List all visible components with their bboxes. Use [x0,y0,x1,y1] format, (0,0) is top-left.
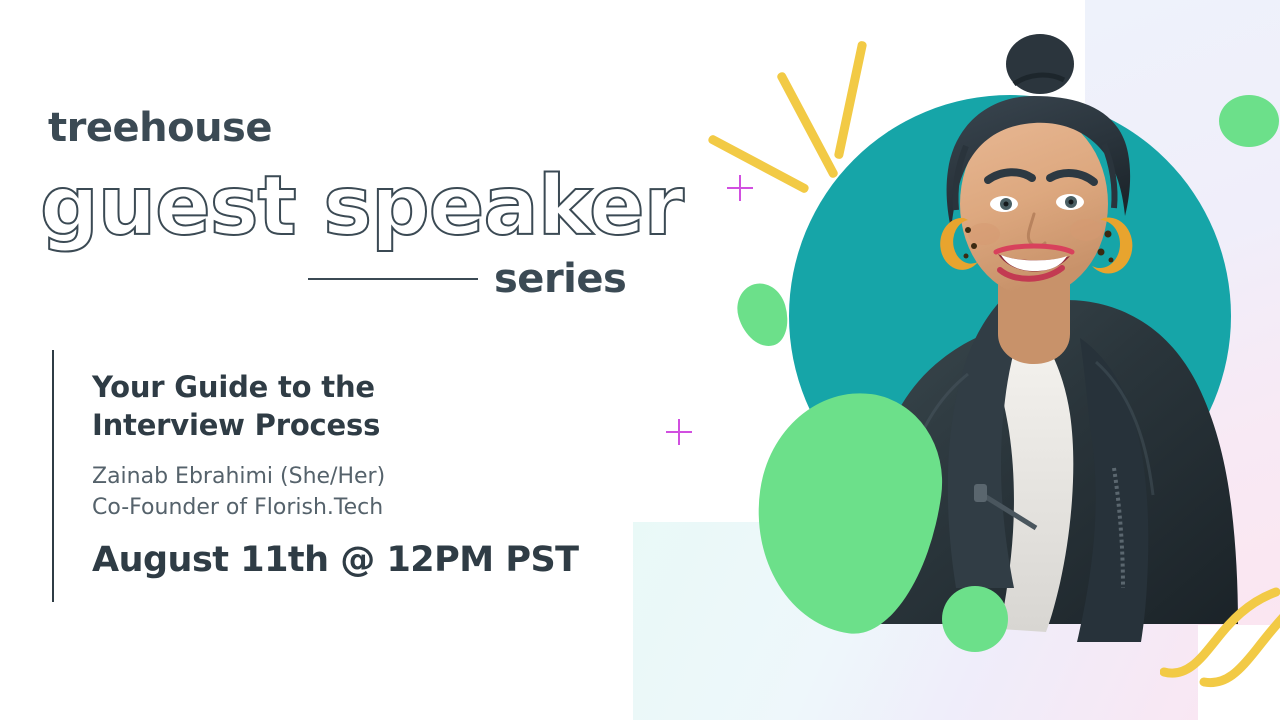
speaker-name: Zainab Ebrahimi (She/Her) [92,461,612,492]
headline-outline: guest speaker [40,164,683,250]
session-datetime: August 11th @ 12PM PST [92,541,612,580]
squiggle-lines-icon [1160,580,1280,690]
series-label: series [494,259,626,299]
plus-mark-mid-icon [666,419,692,445]
speaker-role: Co-Founder of Florish.Tech [92,492,612,523]
slide-canvas: treehouse guest speaker series Your Guid… [0,0,1280,720]
green-circle-bottom-icon [942,586,1008,652]
series-divider-rule [308,278,478,280]
series-row: series [308,255,626,303]
plus-mark-top-icon [727,175,753,201]
session-title: Your Guide to the Interview Process [92,368,612,445]
session-info: Your Guide to the Interview Process Zain… [92,368,612,580]
green-oval-icon [731,278,795,353]
accent-vertical-rule [52,350,54,602]
brand-wordmark: treehouse [48,108,272,148]
